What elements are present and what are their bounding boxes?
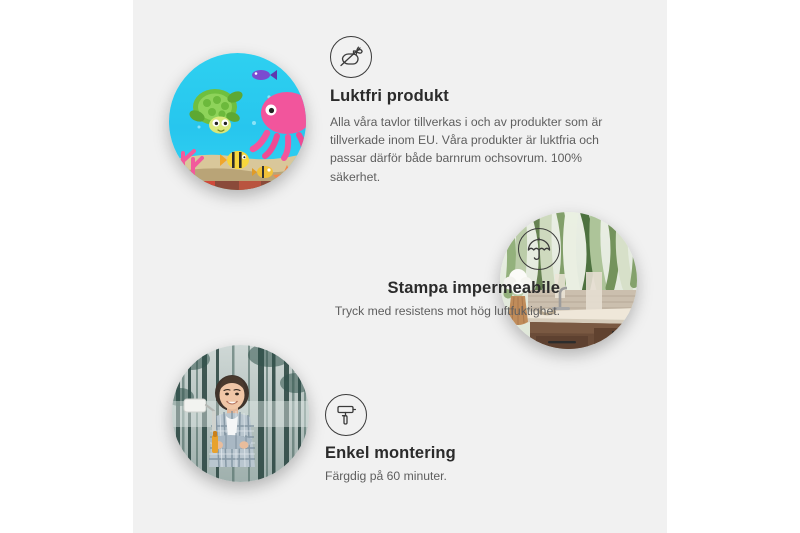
woman-with-paint-roller-photo [172,345,309,482]
umbrella-icon [518,228,560,270]
no-fragrance-bottle-icon [330,36,372,78]
paint-roller-icon [325,394,367,436]
content-panel: Luktfri produkt Alla våra tavlor tillver… [133,0,667,533]
feature-title: Luktfri produkt [330,86,630,107]
feature-title: Stampa impermeabile [223,278,560,299]
feature-odourless: Luktfri produkt Alla våra tavlor tillver… [330,36,630,186]
feature-assembly: Enkel montering Färgdig på 60 minuter. [325,394,625,485]
feature-body: Färgdig på 60 minuter. [325,467,625,485]
underwater-cartoon-mural-photo [169,53,306,190]
feature-title: Enkel montering [325,443,625,464]
feature-body: Alla våra tavlor tillverkas i och av pro… [330,113,630,186]
feature-body: Tryck med resistens mot hög luftfuktighe… [223,302,560,320]
feature-waterproof: Stampa impermeabile Tryck med resistens … [223,228,560,320]
